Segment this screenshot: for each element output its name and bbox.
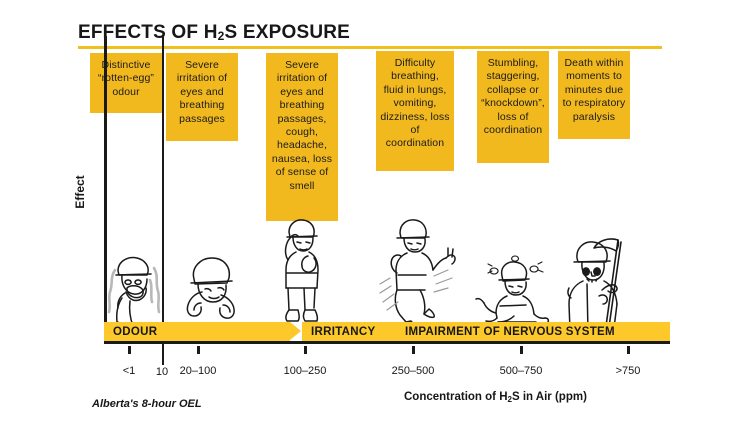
x-tick-3: [304, 346, 307, 354]
x-tick-4: [412, 346, 415, 354]
x-tick-label-6: >750: [616, 365, 641, 377]
h2s-exposure-infographic: EFFECTS OF H2S EXPOSURE Distinctive “rot…: [0, 0, 750, 437]
x-tick-label-5: 500–750: [500, 365, 543, 377]
x-axis-label: Concentration of H2S in Air (ppm): [404, 391, 587, 404]
callout-box-4: Difficulty breathing, fluid in lungs, vo…: [376, 51, 454, 171]
oel-marker-note: Alberta's 8-hour OEL: [92, 398, 202, 410]
figure-worker-collapsed: [474, 258, 550, 324]
y-axis-line: [104, 36, 107, 341]
x-tick-5: [520, 346, 523, 354]
y-axis-label: Effect: [73, 152, 87, 232]
title-subscript: 2: [218, 29, 225, 43]
zone-band-odour-label: ODOUR: [104, 326, 157, 338]
oel-marker-value: 10: [141, 366, 183, 378]
figure-worker-holding-nose: [108, 252, 164, 330]
figure-worker-headache: [272, 218, 326, 328]
callout-box-3: Severe irritation of eyes and breathing …: [266, 53, 338, 221]
title-underline-rule: [78, 46, 662, 49]
x-tick-1: [128, 346, 131, 354]
x-axis-line: [104, 341, 670, 344]
zone-band-irritancy-label: IRRITANCY: [302, 326, 375, 338]
zone-band-impairment: IMPAIRMENT OF NERVOUS SYSTEM: [396, 322, 670, 341]
x-axis-label-post: S in Air (ppm): [512, 391, 587, 403]
x-tick-label-3: 100–250: [284, 365, 327, 377]
x-axis-label-pre: Concentration of H: [404, 391, 508, 403]
title-post: S EXPOSURE: [225, 22, 351, 43]
title-pre: EFFECTS OF H: [78, 22, 218, 43]
zone-band-impairment-label: IMPAIRMENT OF NERVOUS SYSTEM: [396, 326, 615, 338]
callout-box-2: Severe irritation of eyes and breathing …: [166, 53, 238, 141]
page-title: EFFECTS OF H2S EXPOSURE: [78, 22, 350, 44]
x-tick-label-2: 20–100: [180, 365, 217, 377]
callout-box-5: Stumbling, staggering, collapse or “knoc…: [477, 51, 549, 163]
figure-worker-rubbing-eyes: [178, 255, 240, 327]
zone-arrow-head-icon: [290, 322, 301, 340]
x-tick-2: [197, 346, 200, 354]
x-tick-6: [627, 346, 630, 354]
x-tick-label-1: <1: [123, 365, 136, 377]
x-tick-label-4: 250–500: [392, 365, 435, 377]
zone-band-odour: ODOUR: [104, 322, 290, 341]
callout-box-1: Distinctive “rotten-egg” odour: [90, 53, 162, 113]
callout-box-6: Death within moments to minutes due to r…: [558, 51, 630, 139]
figure-worker-staggering: [382, 218, 460, 330]
